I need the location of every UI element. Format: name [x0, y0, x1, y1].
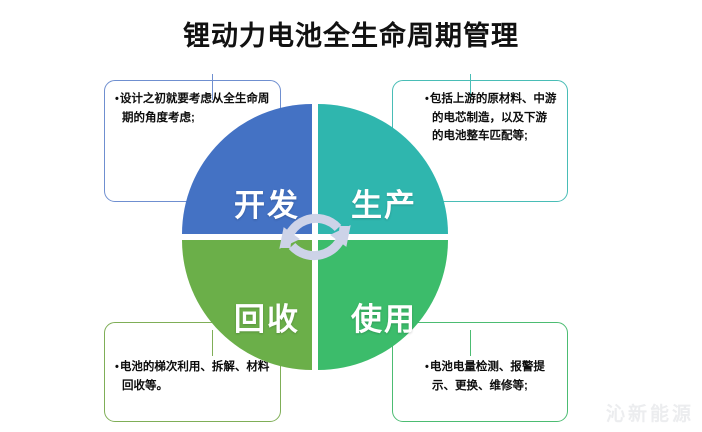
quadrant-label-production: 生产	[351, 180, 417, 225]
quadrant-label-use: 使用	[351, 294, 417, 339]
watermark: 沁新能源	[606, 399, 694, 426]
quadrant-label-develop: 开发	[234, 180, 300, 225]
page-title: 锂动力电池全生命周期管理	[0, 14, 702, 53]
quadrant-label-recycle: 回收	[234, 294, 300, 339]
slide-canvas: 锂动力电池全生命周期管理 设计之初就要考虑从全生命周期的角度考虑; 包括上游的原…	[0, 0, 702, 432]
